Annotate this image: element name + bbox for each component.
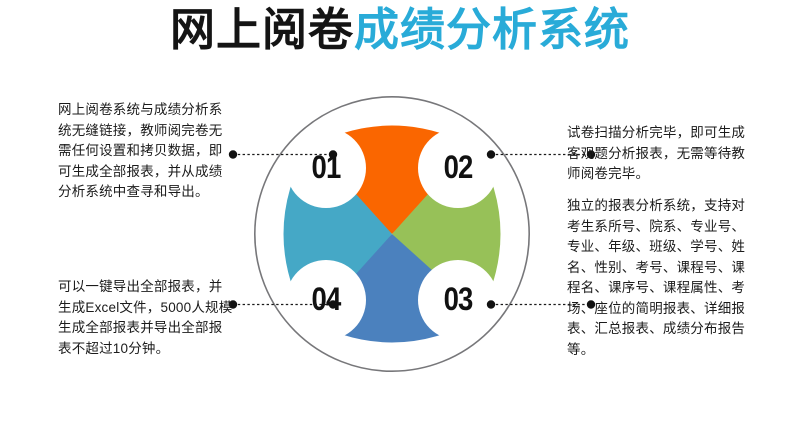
- page-title-accent: 成绩分析系统: [354, 4, 630, 55]
- note-01: 网上阅卷系统与成绩分析系统无缝链接，教师阅完卷无需任何设置和拷贝数据，即可生成全…: [58, 100, 234, 203]
- page-title-primary: 网上阅卷: [170, 4, 354, 55]
- page-title: 网上阅卷成绩分析系统: [0, 2, 800, 58]
- connector-01: [228, 150, 338, 159]
- note-03: 独立的报表分析系统，支持对考生系所号、院系、专业号、专业、年级、班级、学号、姓名…: [567, 196, 747, 360]
- pinwheel-diagram: 01 02 03 04: [253, 95, 531, 373]
- note-02: 试卷扫描分析完毕，即可生成客观题分析报表，无需等待教师阅卷完毕。: [567, 123, 747, 185]
- connector-04: [228, 300, 338, 309]
- marker-02: 02: [444, 150, 473, 185]
- note-04: 可以一键导出全部报表，并生成Excel文件，5000人规模生成全部报表并导出全部…: [58, 277, 234, 359]
- marker-03: 03: [444, 282, 473, 317]
